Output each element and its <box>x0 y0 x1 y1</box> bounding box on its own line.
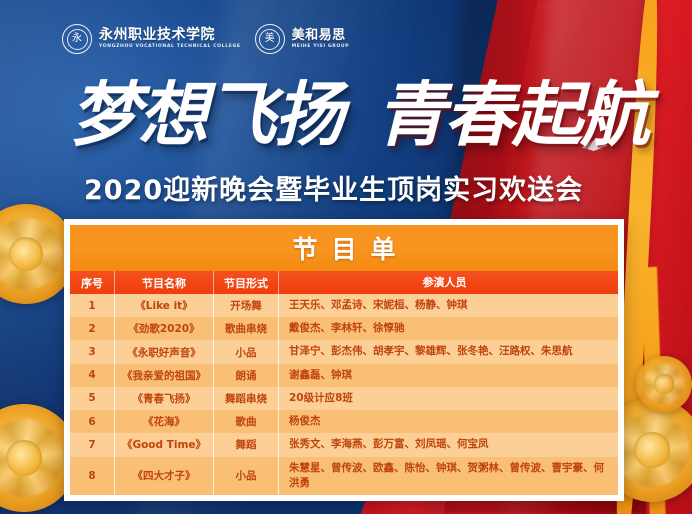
table-row: 1《Like it》开场舞王天乐、邓孟诗、宋妮桓、杨静、钟琪 <box>70 294 618 317</box>
poster-main-title: 梦想飞扬 青春起航 <box>70 62 630 167</box>
cell-name: 《四大才子》 <box>115 457 214 495</box>
college-logo: 永 永州职业技术学院 YONGZHOU VOCATIONAL TECHNICAL… <box>62 24 241 54</box>
table-row: 8《四大才子》小品朱慧星、曾传波、欧鑫、陈怡、钟琪、贺粥林、曾传波、曹宇豪、何洪… <box>70 457 618 495</box>
cell-name: 《Like it》 <box>115 294 214 317</box>
cell-cast: 朱慧星、曾传波、欧鑫、陈怡、钟琪、贺粥林、曾传波、曹宇豪、何洪勇 <box>279 457 619 495</box>
cell-no: 1 <box>70 294 115 317</box>
table-row: 2《劲歌2020》歌曲串烧戴俊杰、李林轩、徐惇驰 <box>70 317 618 340</box>
cell-no: 8 <box>70 457 115 495</box>
cell-form: 舞蹈串烧 <box>214 387 279 410</box>
event-poster: 永 永州职业技术学院 YONGZHOU VOCATIONAL TECHNICAL… <box>0 0 692 514</box>
title-phrase-1: 梦想飞扬 <box>70 80 342 150</box>
partner-name-en: MEIHE YISI GROUP <box>292 44 350 50</box>
cell-no: 4 <box>70 364 115 387</box>
cell-no: 2 <box>70 317 115 340</box>
program-title: 节目单 <box>70 225 618 271</box>
cell-no: 5 <box>70 387 115 410</box>
cell-form: 歌曲 <box>214 410 279 433</box>
column-header-cast: 参演人员 <box>279 271 619 294</box>
program-table-body: 1《Like it》开场舞王天乐、邓孟诗、宋妮桓、杨静、钟琪2《劲歌2020》歌… <box>70 294 618 495</box>
logo-row: 永 永州职业技术学院 YONGZHOU VOCATIONAL TECHNICAL… <box>62 24 349 54</box>
cell-cast: 张秀文、李海燕、彭万富、刘凤瑶、何宝凤 <box>279 433 619 456</box>
cell-name: 《青春飞扬》 <box>115 387 214 410</box>
cell-form: 歌曲串烧 <box>214 317 279 340</box>
partner-name-cn: 美和易思 <box>292 29 350 43</box>
partner-seal-glyph: 美 <box>259 29 280 50</box>
table-row: 3《永职好声音》小品甘泽宁、彭杰伟、胡孝宇、黎雄辉、张冬艳、汪路权、朱思航 <box>70 340 618 363</box>
cell-name: 《劲歌2020》 <box>115 317 214 340</box>
cell-no: 3 <box>70 340 115 363</box>
cell-name: 《永职好声音》 <box>115 340 214 363</box>
poster-subtitle: 2020迎新晚会暨毕业生顶岗实习欢送会 <box>84 168 583 207</box>
cell-form: 开场舞 <box>214 294 279 317</box>
college-seal-icon: 永 <box>62 24 92 54</box>
college-logo-texts: 永州职业技术学院 YONGZHOU VOCATIONAL TECHNICAL C… <box>99 28 241 49</box>
program-table-head: 序号 节目名称 节目形式 参演人员 <box>70 271 618 294</box>
program-table: 序号 节目名称 节目形式 参演人员 1《Like it》开场舞王天乐、邓孟诗、宋… <box>70 271 618 495</box>
cell-cast: 杨俊杰 <box>279 410 619 433</box>
college-name-en: YONGZHOU VOCATIONAL TECHNICAL COLLEGE <box>99 44 241 50</box>
cell-form: 小品 <box>214 457 279 495</box>
golden-flower-icon <box>636 356 692 412</box>
table-row: 7《Good Time》舞蹈张秀文、李海燕、彭万富、刘凤瑶、何宝凤 <box>70 433 618 456</box>
program-header-row: 序号 节目名称 节目形式 参演人员 <box>70 271 618 294</box>
partner-logo-texts: 美和易思 MEIHE YISI GROUP <box>292 29 350 49</box>
cell-form: 朗诵 <box>214 364 279 387</box>
cell-no: 7 <box>70 433 115 456</box>
column-header-name: 节目名称 <box>115 271 214 294</box>
college-name-cn: 永州职业技术学院 <box>99 28 241 43</box>
title-phrase-2: 青春起航 <box>376 80 648 150</box>
column-header-no: 序号 <box>70 271 115 294</box>
partner-seal-icon: 美 <box>255 24 285 54</box>
column-header-form: 节目形式 <box>214 271 279 294</box>
partner-logo: 美 美和易思 MEIHE YISI GROUP <box>255 24 350 54</box>
cell-cast: 戴俊杰、李林轩、徐惇驰 <box>279 317 619 340</box>
cell-form: 舞蹈 <box>214 433 279 456</box>
cell-cast: 王天乐、邓孟诗、宋妮桓、杨静、钟琪 <box>279 294 619 317</box>
cell-form: 小品 <box>214 340 279 363</box>
cell-cast: 20级计应8班 <box>279 387 619 410</box>
cell-name: 《我亲爱的祖国》 <box>115 364 214 387</box>
table-row: 6《花海》歌曲杨俊杰 <box>70 410 618 433</box>
table-row: 4《我亲爱的祖国》朗诵谢鑫磊、钟琪 <box>70 364 618 387</box>
cell-name: 《Good Time》 <box>115 433 214 456</box>
cell-name: 《花海》 <box>115 410 214 433</box>
college-seal-glyph: 永 <box>67 29 88 50</box>
cell-cast: 谢鑫磊、钟琪 <box>279 364 619 387</box>
cell-no: 6 <box>70 410 115 433</box>
cell-cast: 甘泽宁、彭杰伟、胡孝宇、黎雄辉、张冬艳、汪路权、朱思航 <box>279 340 619 363</box>
program-card: 节目单 序号 节目名称 节目形式 参演人员 1《Like it》开场舞王天乐、邓… <box>64 219 624 501</box>
table-row: 5《青春飞扬》舞蹈串烧20级计应8班 <box>70 387 618 410</box>
